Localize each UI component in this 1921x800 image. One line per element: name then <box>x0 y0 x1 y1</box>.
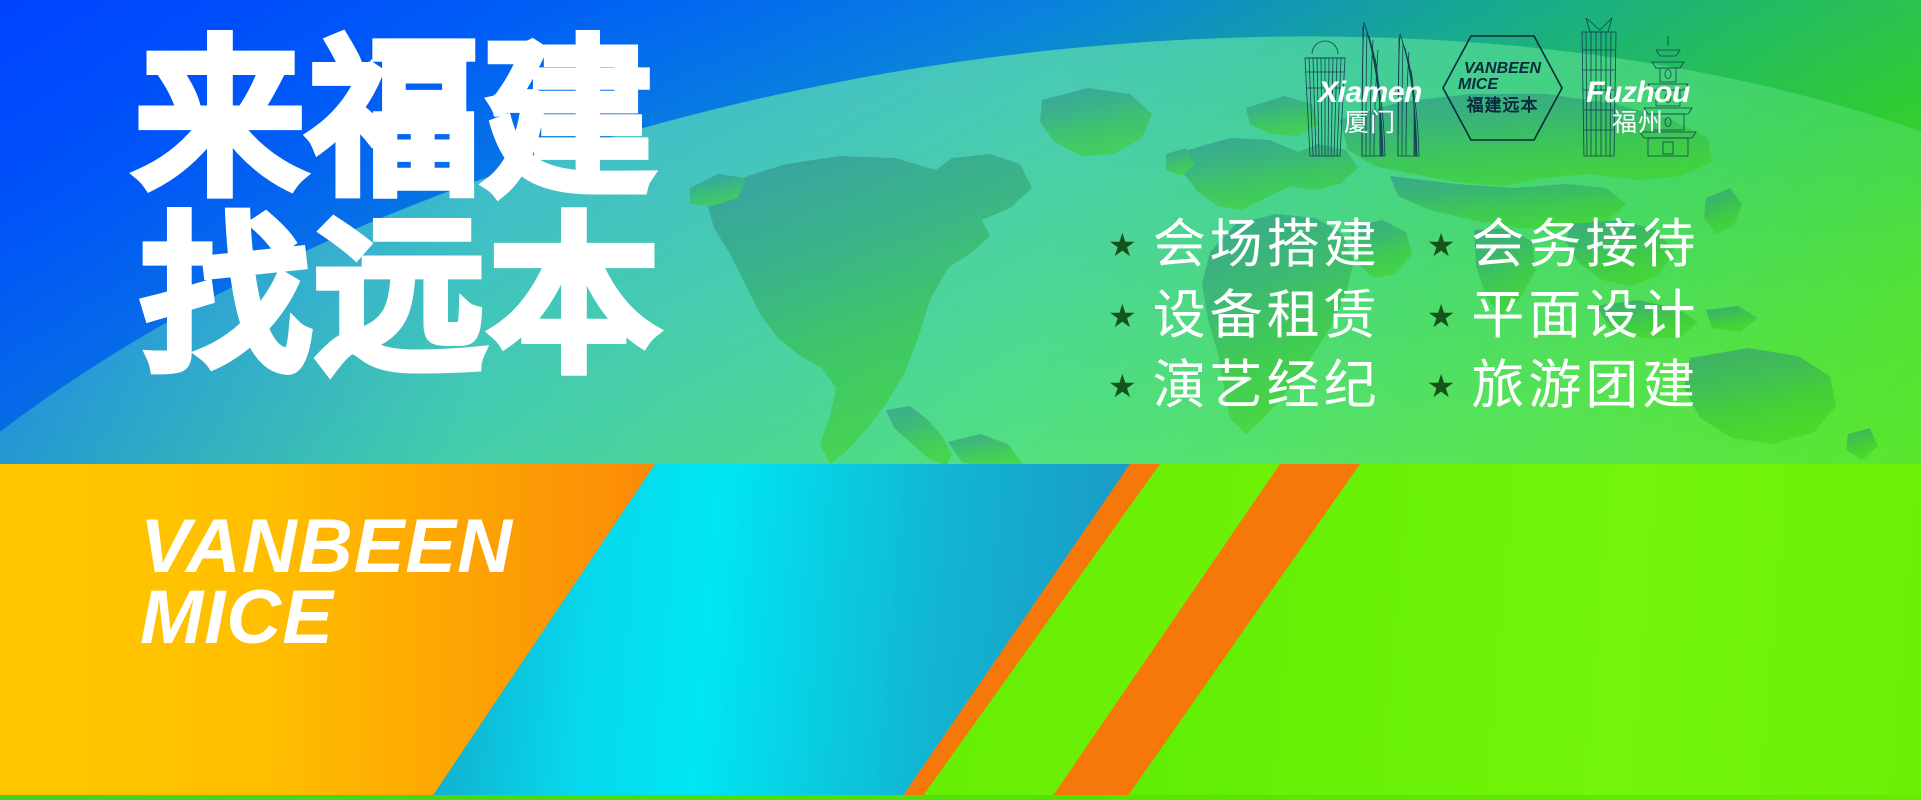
headline: 来福建 找远本 <box>135 38 663 381</box>
city-fuzhou-en: Fuzhou <box>1563 78 1713 108</box>
service-item: ★ 平面设计 <box>1427 285 1700 348</box>
services-list: ★ 会场搭建 ★ 会务接待 ★ 设备租赁 ★ 平面设计 ★ 演艺经纪 ★ 旅游团… <box>1108 214 1699 418</box>
badge-en-line-1: VANBEEN <box>1464 61 1541 78</box>
star-icon: ★ <box>1108 229 1137 261</box>
service-label: 旅游团建 <box>1471 355 1699 418</box>
service-item: ★ 设备租赁 <box>1108 285 1381 348</box>
bottom-brand-bar: VANBEEN MICE <box>0 464 1921 800</box>
service-label: 设备租赁 <box>1153 285 1381 348</box>
service-label: 演艺经纪 <box>1153 355 1381 418</box>
vanbeen-hexagon-badge: VANBEEN MICE 福建远本 <box>1440 32 1565 144</box>
city-label-xiamen: Xiamen 厦门 <box>1300 78 1440 136</box>
promotional-banner: 来福建 找远本 <box>0 0 1921 800</box>
service-item: ★ 演艺经纪 <box>1108 355 1381 418</box>
star-icon: ★ <box>1427 300 1456 332</box>
service-item: ★ 旅游团建 <box>1427 355 1700 418</box>
city-logo-cluster: VANBEEN MICE 福建远本 Xiamen 厦门 Fuzhou 福州 <box>1300 6 1710 166</box>
city-xiamen-cn: 厦门 <box>1300 111 1440 136</box>
headline-line-1: 来福建 <box>135 38 663 205</box>
city-xiamen-en: Xiamen <box>1300 78 1440 108</box>
wordmark-line-2: MICE <box>140 583 513 654</box>
service-label: 平面设计 <box>1471 285 1699 348</box>
service-item: ★ 会务接待 <box>1427 214 1700 277</box>
badge-en-line-2: MICE <box>1458 77 1498 94</box>
star-icon: ★ <box>1108 370 1137 402</box>
city-fuzhou-cn: 福州 <box>1563 111 1713 136</box>
service-label: 会务接待 <box>1471 214 1699 277</box>
service-label: 会场搭建 <box>1153 214 1381 277</box>
city-label-fuzhou: Fuzhou 福州 <box>1563 78 1713 136</box>
star-icon: ★ <box>1427 229 1456 261</box>
service-item: ★ 会场搭建 <box>1108 214 1381 277</box>
star-icon: ★ <box>1427 370 1456 402</box>
main-panel: 来福建 找远本 <box>0 0 1921 464</box>
bottom-edge-strip <box>0 795 1921 800</box>
headline-line-2: 找远本 <box>141 215 663 382</box>
star-icon: ★ <box>1108 300 1137 332</box>
hexagon-badge-text: VANBEEN MICE 福建远本 <box>1440 32 1565 144</box>
vanbeen-mice-wordmark: VANBEEN MICE <box>140 512 513 653</box>
badge-cn-name: 福建远本 <box>1467 97 1539 115</box>
wordmark-line-1: VANBEEN <box>140 512 513 583</box>
